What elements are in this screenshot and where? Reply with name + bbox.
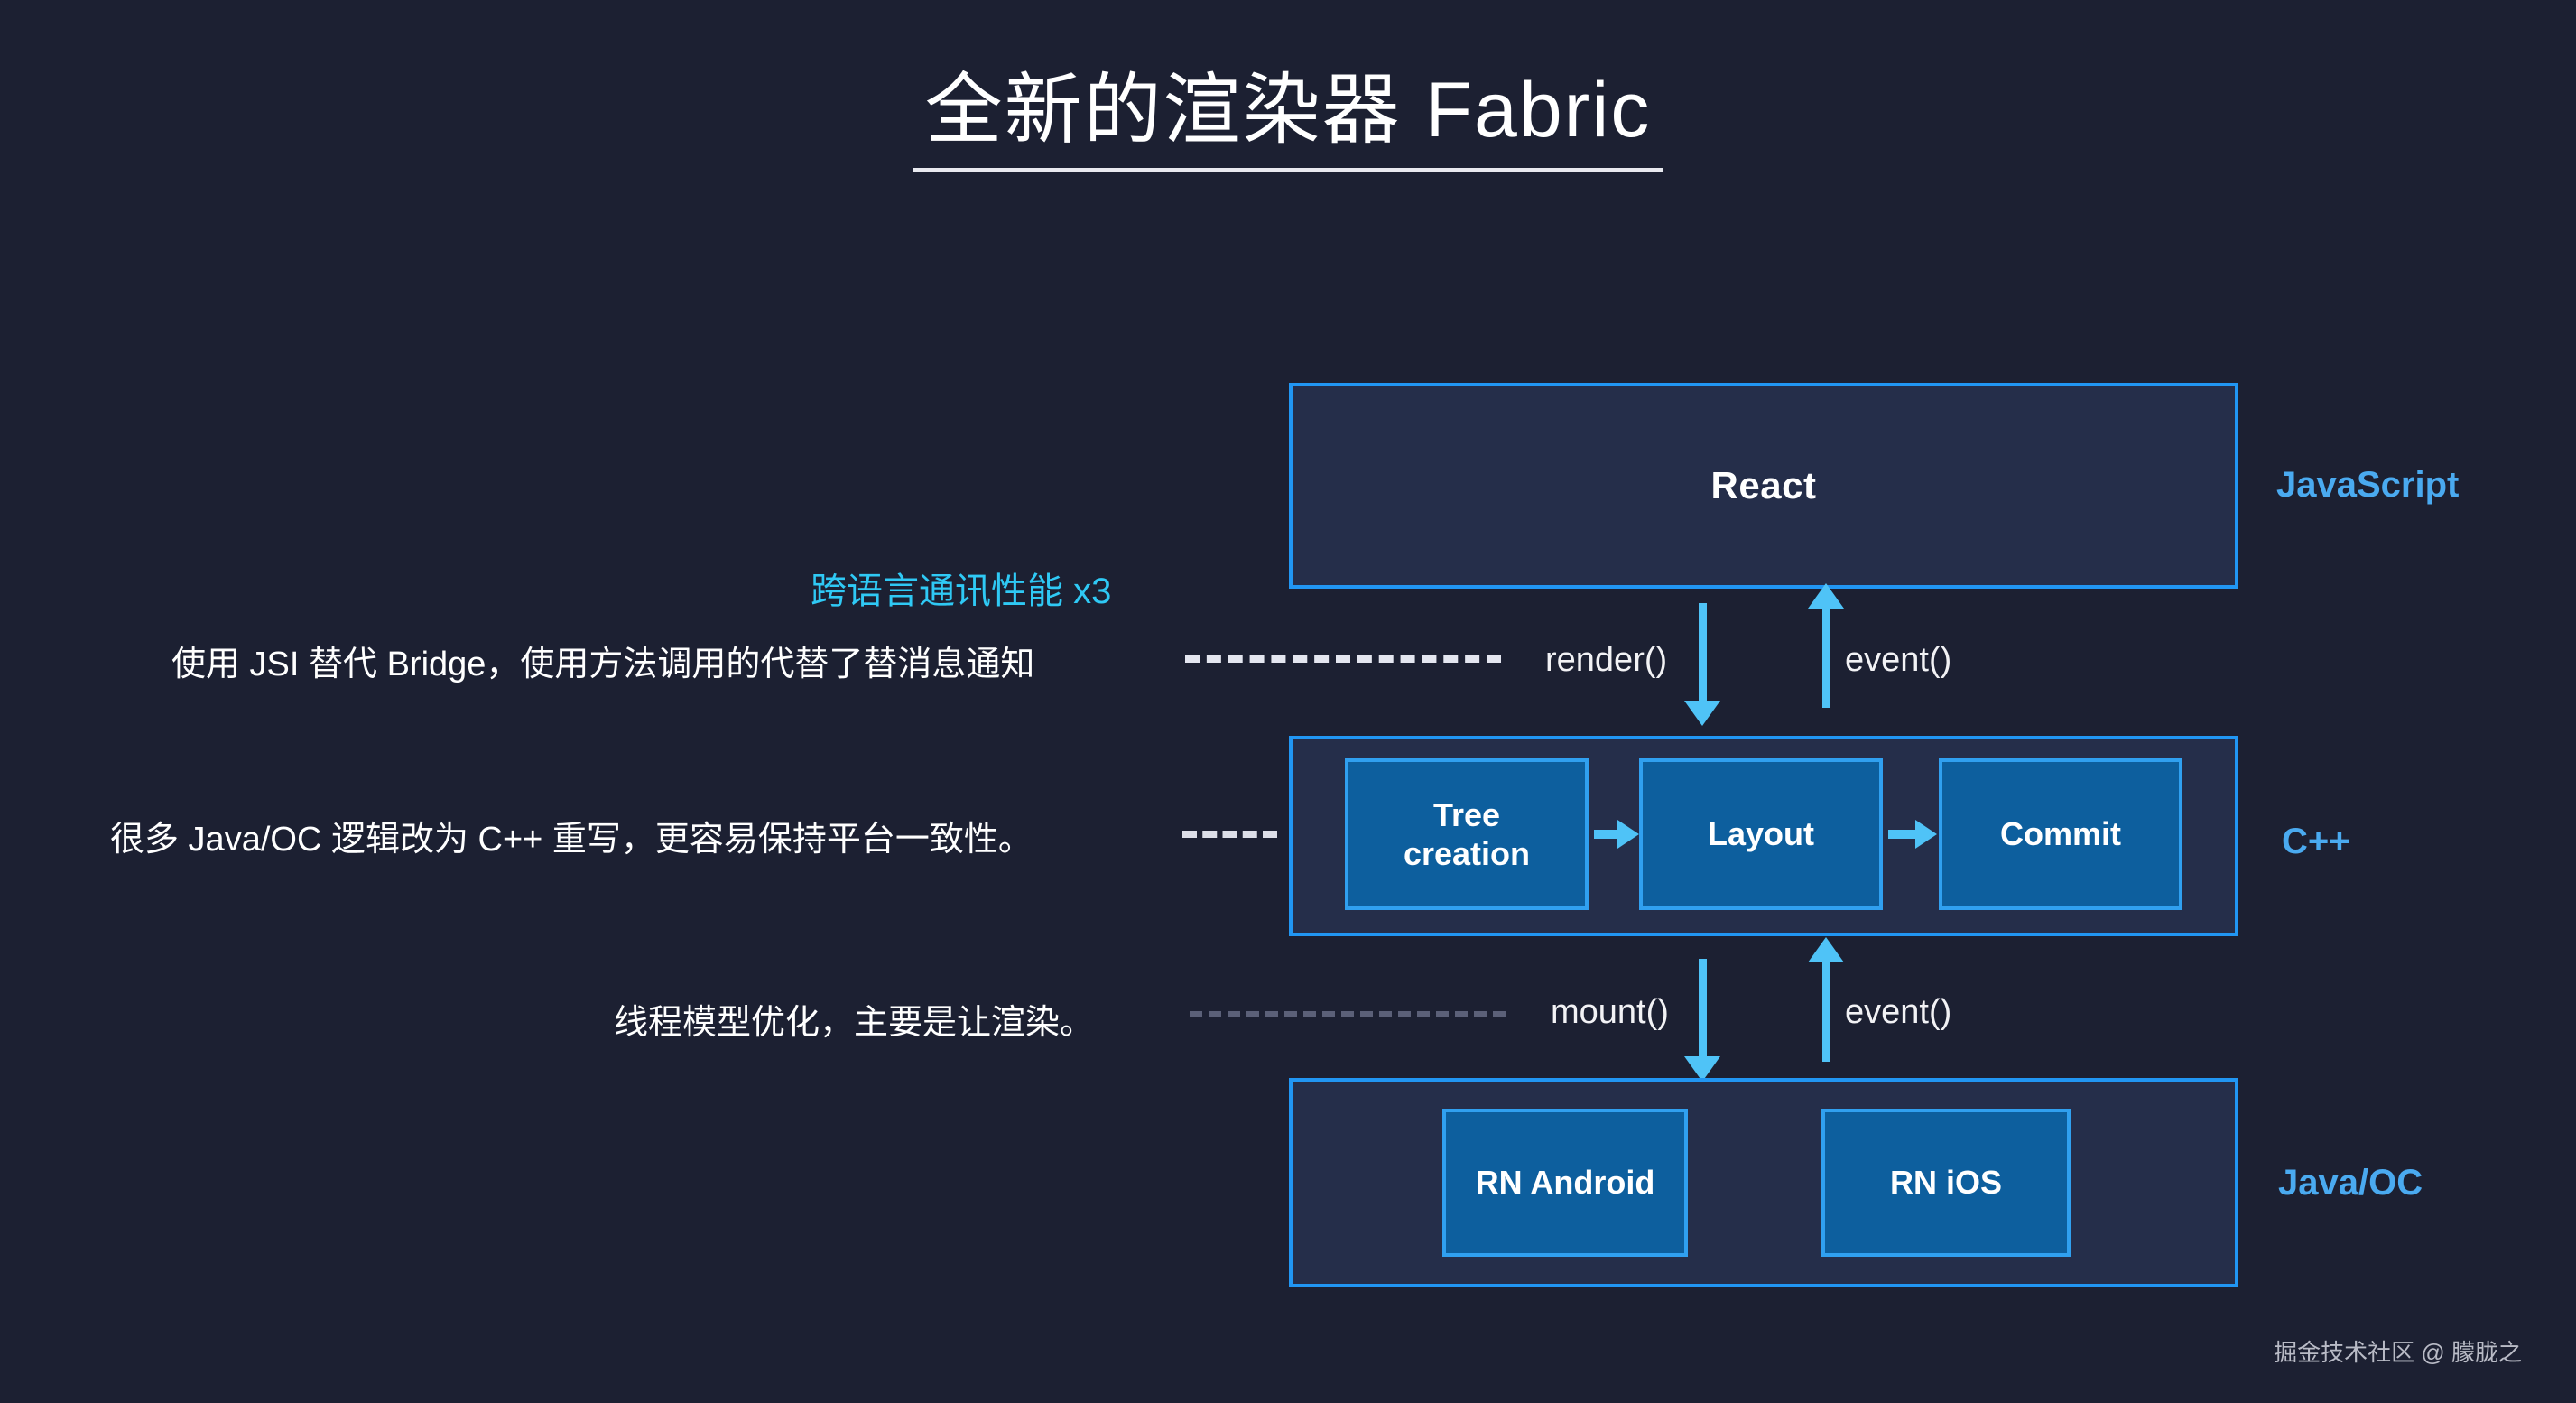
- mount-flow-label: mount(): [1551, 993, 1669, 1032]
- language-label-cpp: C++: [2282, 822, 2350, 862]
- event-flow-label-top: event(): [1845, 641, 1951, 680]
- node-rn-android: RN Android: [1442, 1109, 1688, 1257]
- arrow-right-icon-layout-to-commit: [1888, 830, 1917, 839]
- native-layer-box: [1289, 1078, 2238, 1287]
- language-label-javascript: JavaScript: [2276, 465, 2459, 506]
- render-flow-label: render(): [1545, 641, 1667, 680]
- slide-canvas: 全新的渲染器 Fabric React JavaScript render() …: [0, 0, 2576, 1403]
- connector-dashed-middle: [1182, 831, 1277, 838]
- language-label-java-oc: Java/OC: [2278, 1163, 2423, 1203]
- node-rn-ios: RN iOS: [1821, 1109, 2071, 1257]
- react-label: React: [1293, 386, 2235, 585]
- node-tree-creation: Treecreation: [1345, 758, 1589, 910]
- node-layout: Layout: [1639, 758, 1883, 910]
- render-arrow-down-icon: [1699, 603, 1707, 702]
- arrow-right-icon-tree-to-layout: [1594, 830, 1619, 839]
- connector-dashed-bottom: [1190, 1011, 1506, 1017]
- annotation-jsi-bridge: 使用 JSI 替代 Bridge，使用方法调用的代替了替消息通知: [171, 636, 1034, 685]
- annotation-cpp-rewrite: 很多 Java/OC 逻辑改为 C++ 重写，更容易保持平台一致性。: [110, 811, 1033, 860]
- javascript-layer-box: React: [1289, 383, 2238, 589]
- connector-dashed-top: [1185, 655, 1501, 663]
- event-arrow-up-icon-bottom: [1822, 961, 1830, 1062]
- event-flow-label-bottom: event(): [1845, 993, 1951, 1032]
- node-commit: Commit: [1939, 758, 2182, 910]
- annotation-thread-model: 线程模型优化，主要是让渲染。: [614, 994, 1094, 1044]
- annotation-highlight: 跨语言通讯性能 x3: [811, 562, 1111, 614]
- mount-arrow-down-icon: [1699, 959, 1707, 1058]
- page-title: 全新的渲染器 Fabric: [913, 68, 1664, 172]
- watermark-text: 掘金技术社区 @ 朦胧之: [2274, 1334, 2522, 1368]
- event-arrow-up-icon-top: [1822, 607, 1830, 708]
- page-title-wrapper: 全新的渲染器 Fabric: [0, 68, 2576, 172]
